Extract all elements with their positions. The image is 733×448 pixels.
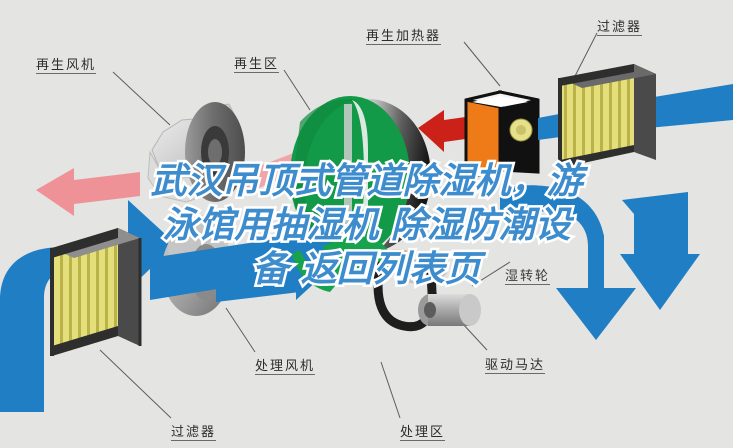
drive-motor-graphic	[418, 294, 481, 326]
overlay-title-line-3: 备 返回列表页	[77, 248, 657, 292]
label-process-zone: 处理区	[400, 424, 445, 441]
label-drive-motor: 驱动马达	[485, 357, 545, 374]
label-regeneration-fan: 再生风机	[36, 57, 96, 74]
overlay-title: 武汉吊顶式管道除湿机，游 泳馆用抽湿机 除湿防潮设 备 返回列表页	[77, 160, 657, 292]
overlay-title-line-1: 武汉吊顶式管道除湿机，游	[77, 160, 657, 204]
label-process-fan: 处理风机	[255, 358, 315, 375]
label-filter-bottom: 过滤器	[171, 424, 216, 441]
filter-top-graphic	[560, 64, 656, 168]
label-regeneration-zone: 再生区	[234, 56, 279, 73]
overlay-title-line-2: 泳馆用抽湿机 除湿防潮设	[77, 204, 657, 248]
label-filter-top: 过滤器	[597, 19, 642, 36]
diagram-canvas: 再生风机 再生区 再生加热器 过滤器 湿转轮 处理风机 驱动马达 过滤器 处理区…	[0, 0, 733, 448]
label-regeneration-heater: 再生加热器	[366, 28, 441, 45]
